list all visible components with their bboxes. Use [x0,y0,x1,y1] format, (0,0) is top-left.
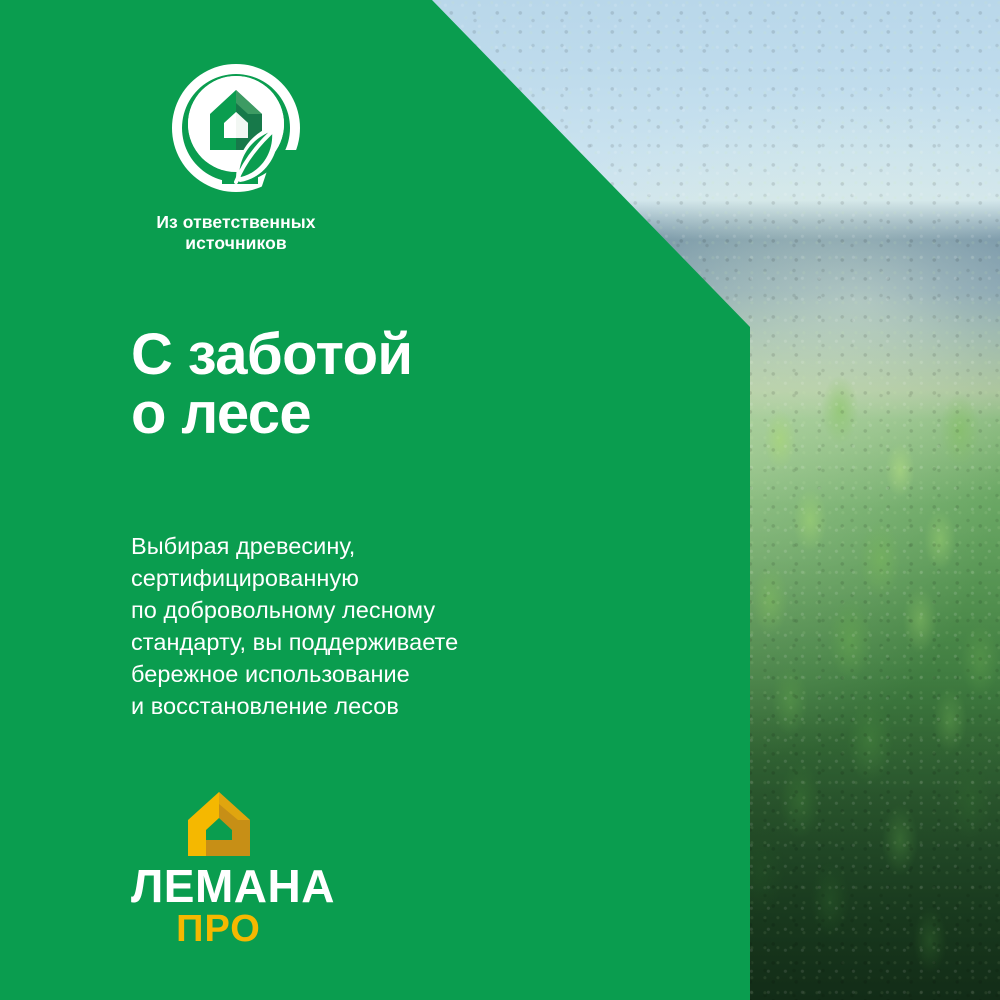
lemana-house-icon [180,790,258,858]
house-leaf-circle-icon [166,58,306,198]
poster: Из ответственных источников С заботой о … [0,0,1000,1000]
certification-badge-caption: Из ответственных источников [130,212,342,255]
brand-subname: ПРО [131,910,306,948]
brand-lockup: ЛЕМАНА ПРО [131,790,306,948]
certification-badge: Из ответственных источников [130,58,342,255]
headline: С заботой о лесе [131,325,412,443]
body-copy: Выбирая древесину, сертифицированную по … [131,531,458,723]
brand-name: ЛЕМАНА [131,864,306,908]
